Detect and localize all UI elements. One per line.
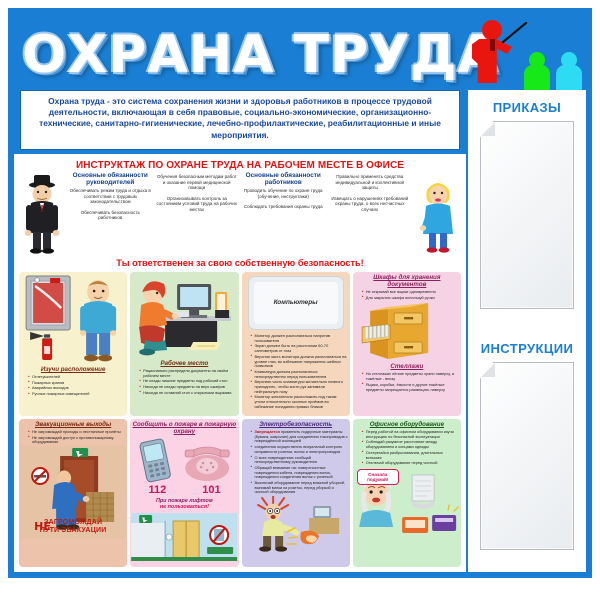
lift-warning-line-1: При пожаре лифтом: [156, 498, 213, 504]
list-item: Ящики, коробки, ёмкости и другие тяжёлые…: [362, 383, 459, 392]
list-item: Рационально распредели документы на своё…: [139, 369, 236, 378]
list-item: Отключай оборудование перед чисткой: [362, 461, 459, 466]
duties-column: Основные обязанности руководителей Обесп…: [67, 172, 154, 256]
card-title: Эвакуационные выходы: [19, 419, 127, 429]
workplace-illustration: [130, 272, 238, 358]
card-title: Электробезопасность: [242, 419, 350, 429]
list-item: Перед работой на офисном оборудовании из…: [362, 430, 459, 439]
card-list: Перед работой на офисном оборудовании из…: [357, 430, 459, 466]
card-list: Запрещается применять подручные материал…: [246, 430, 348, 495]
list-item: Не загромождай доступ к противопожарному…: [28, 436, 125, 445]
duty-item: Проводить обучение по охране труда (обуч…: [242, 188, 325, 199]
card-title: Изучи расположение: [19, 364, 127, 374]
lift-warning: При пожаре лифтом не пользоваться!: [130, 498, 238, 511]
intro-text: Охрана труда - это система сохранения жи…: [29, 96, 451, 141]
no-lift-icon: [210, 526, 228, 544]
duty-item: Извещать о нарушениях требований охраны …: [329, 196, 412, 213]
duty-item: Обеспечивать безопасность работников: [69, 210, 152, 221]
list-item: Соблюдай разумное расстояние между обору…: [362, 440, 459, 449]
list-item: О всех повреждениях сообщай непосредстве…: [251, 456, 348, 465]
list-item: Верхняя часть монитора должна располагат…: [251, 355, 348, 369]
intro-box: Охрана труда - это система сохранения жи…: [20, 90, 460, 150]
duty-item: Соблюдать требования охраны труда: [242, 204, 325, 210]
list-item: Никогда не оставляй стол с открытыми ящи…: [139, 391, 236, 396]
card-evacuation-exits: Эвакуационные выходы Не загромождай прох…: [19, 419, 127, 567]
list-item: Не открывай все ящики одновременно: [362, 290, 459, 295]
emergency-number-mobile: 112: [130, 484, 184, 496]
safety-poster: ОХРАНА ТРУДА Охрана труда - это система …: [8, 8, 592, 578]
duty-item: Организовывать контроль за состоянием ус…: [156, 196, 239, 213]
responsibility-line: Ты ответственен за свою собственную безо…: [17, 258, 463, 268]
duty-item: Обеспечивать режим труда и отдыха в соот…: [69, 188, 152, 205]
card-list: Рационально распредели документы на своё…: [134, 369, 236, 396]
duties-columns: Основные обязанности руководителей Обесп…: [67, 172, 413, 256]
warning-line: ЗАГРОМОЖДАЙ: [44, 519, 102, 526]
instruction-heading: ИНСТРУКТАЖ ПО ОХРАНЕ ТРУДА НА РАБОЧЕМ МЕ…: [17, 160, 463, 171]
list-item: Экран должен быть на расстоянии 60-70 са…: [251, 344, 348, 353]
page-title: ОХРАНА ТРУДА: [22, 22, 462, 88]
duties-column: Правильно применять средства индивидуаль…: [327, 172, 414, 256]
card-fire-report: Сообщить о пожаре в пожарную охрану: [130, 419, 238, 567]
document-pocket-instructions[interactable]: [480, 362, 574, 550]
card-sub-list: На стеллажах лёгкие предметы храни навер…: [357, 372, 459, 392]
sidebar-section-instructions: ИНСТРУКЦИИ: [468, 331, 586, 572]
list-item: Монитор должен располагаться напротив по…: [251, 334, 348, 343]
worker-figure-icon: [415, 172, 461, 254]
monitor-illustration: Компьютеры: [248, 276, 344, 330]
list-item: соединения осуществлять визуальный контр…: [251, 445, 348, 454]
list-item: На стеллажах лёгкие предметы храни навер…: [362, 372, 459, 381]
cards-row-2: Эвакуационные выходы Не загромождай прох…: [19, 419, 461, 567]
card-list: Огнетушителей Пожарных кранов Аварийных …: [23, 375, 125, 397]
list-item: Не загромождай проходы и лестничные прол…: [28, 430, 125, 435]
card-subtitle: Стеллажи: [353, 363, 461, 371]
no-smoking-icon: [32, 468, 48, 484]
sidebar-title-instructions: ИНСТРУКЦИИ: [474, 341, 580, 356]
card-title: Офисное оборудование: [353, 419, 461, 429]
duties-column: Основные обязанности работников Проводит…: [240, 172, 327, 256]
card-title: Компьютеры: [249, 299, 343, 306]
list-item: Огнетушителей: [28, 375, 125, 380]
card-cabinets: Шкафы для хранения документов Не открыва…: [353, 272, 461, 416]
card-list: Монитор должен располагаться напротив по…: [246, 334, 348, 410]
manager-figure-icon: [19, 172, 65, 254]
emergency-number-landline: 101: [184, 484, 238, 496]
lecturer-icon: [468, 20, 524, 92]
list-item: Верхнюю часть клавиатуры желательно немн…: [251, 380, 348, 394]
card-electrical-safety: Электробезопасность Запрещается применят…: [242, 419, 350, 567]
card-title: Шкафы для хранения документов: [353, 272, 461, 289]
duties-column-title: Основные обязанности руководителей: [69, 172, 152, 186]
fire-cabinet-illustration: [19, 272, 127, 364]
lift-illustration: [130, 513, 238, 561]
list-item: Клавиатура должна располагаться непосред…: [251, 370, 348, 379]
pointer-icon: [502, 22, 528, 44]
main-panel: ИНСТРУКТАЖ ПО ОХРАНЕ ТРУДА НА РАБОЧЕМ МЕ…: [14, 154, 466, 572]
card-workplace: Рабочее место Рационально распредели док…: [130, 272, 238, 416]
card-title: Сообщить о пожаре в пожарную охрану: [130, 419, 238, 436]
card-list: Не открывай все ящики одновременно Для з…: [357, 290, 459, 300]
duty-item: Правильно применять средства индивидуаль…: [329, 174, 412, 191]
lift-warning-line-2: не пользоваться!: [160, 504, 209, 510]
card-fire-location: Изучи расположение Огнетушителей Пожарны…: [19, 272, 127, 416]
warning-line: ПУТИ ЭВАКУАЦИИ: [40, 527, 107, 534]
document-pocket-orders[interactable]: [480, 121, 574, 309]
card-computers: Компьютеры Монитор должен располагаться …: [242, 272, 350, 416]
duties-section: Основные обязанности руководителей Обесп…: [19, 172, 461, 256]
list-item: Остерегайся разбрызгивания, длительных в…: [362, 451, 459, 460]
electric-shock-illustration: [242, 496, 350, 552]
sidebar-section-orders: ПРИКАЗЫ: [468, 90, 586, 331]
phones-illustration: [130, 436, 238, 484]
filing-cabinet-illustration: [353, 301, 461, 363]
list-item: Обращай внимание на: поверхностные повре…: [251, 466, 348, 480]
think-first-bubble: Сначала подумай!: [357, 469, 399, 485]
list-item: Ручных пожарных извещателей: [28, 392, 125, 397]
card-title: Рабочее место: [130, 358, 238, 368]
sidebar-title-orders: ПРИКАЗЫ: [474, 100, 580, 115]
evacuation-warning: ЗАГРОМОЖДАЙ ПУТИ ЭВАКУАЦИИ: [19, 519, 127, 535]
cards-row-1: Изучи расположение Огнетушителей Пожарны…: [19, 272, 461, 416]
card-list: Не загромождай проходы и лестничные прол…: [23, 430, 125, 445]
list-item-lead: Запрещается применять подручные материал…: [251, 430, 348, 444]
card-office-equipment: Офисное оборудование Перед работой на оф…: [353, 419, 461, 567]
list-item: Для закрытия шкафа используй ручки: [362, 296, 459, 301]
duty-item: Обучения безопасным методам работ и оказ…: [156, 174, 239, 191]
list-item: Выключай оборудование перед влажной убор…: [251, 481, 348, 495]
list-item: Монитор желательно расположить под таким…: [251, 395, 348, 409]
sidebar: ПРИКАЗЫ ИНСТРУКЦИИ: [468, 90, 586, 572]
duties-column: Обучения безопасным методам работ и оказ…: [154, 172, 241, 256]
duties-column-title: Основные обязанности работников: [242, 172, 325, 186]
